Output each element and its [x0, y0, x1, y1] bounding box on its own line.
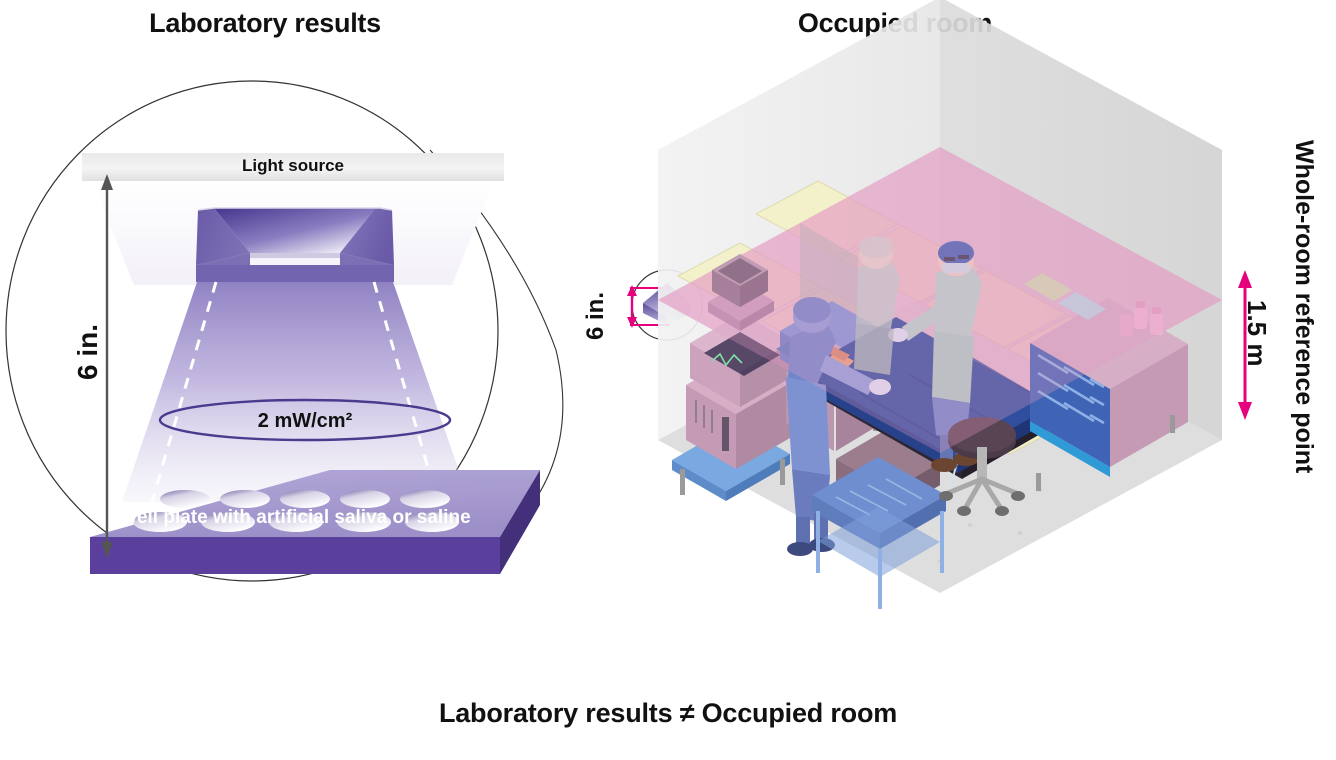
lamp-housing — [196, 205, 394, 282]
lab-height-label: 6 in. — [72, 324, 104, 380]
irradiance-label: 2 mW/cm² — [160, 410, 450, 433]
occupied-room-diagram — [640, 55, 1260, 635]
panel-title-laboratory: Laboratory results — [115, 8, 415, 39]
whole-room-reference-label: Whole-room reference point — [1289, 140, 1318, 473]
occupied-room-panel — [640, 55, 1260, 635]
well-plate-label: Well plate with artificial saliva or sal… — [90, 499, 500, 536]
light-source-label: Light source — [82, 156, 504, 176]
light-beam — [122, 282, 470, 502]
room-height-label: 1.5 m — [1241, 300, 1272, 367]
magnifier-height-label: 6 in. — [582, 292, 610, 340]
bottom-caption: Laboratory results ≠ Occupied room — [0, 698, 1336, 729]
